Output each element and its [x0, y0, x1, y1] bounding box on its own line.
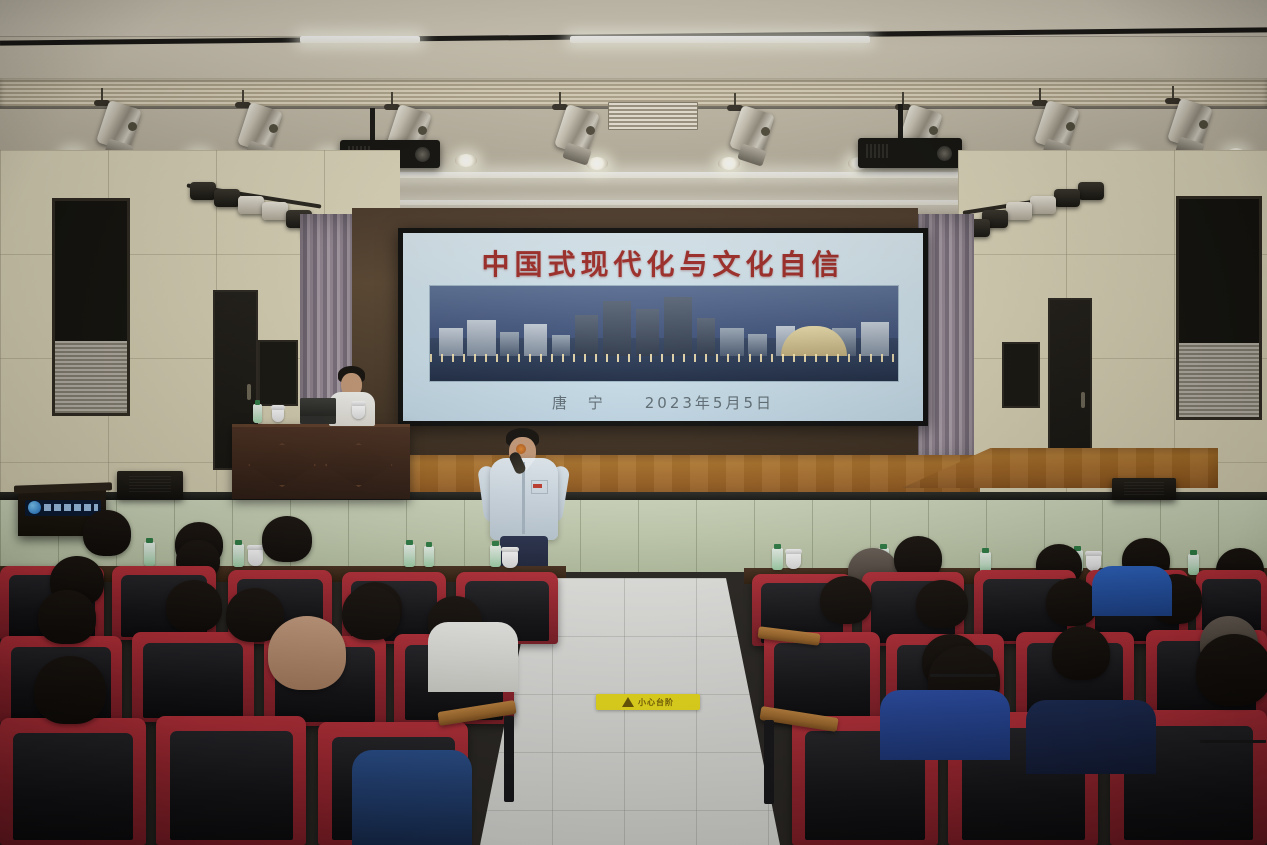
auditorium-seat[interactable] [156, 716, 306, 845]
audience-head [83, 510, 131, 556]
podium-nameplate [25, 500, 101, 516]
eyeglasses [1200, 740, 1266, 743]
stage-par-light [1078, 182, 1104, 200]
stage-par-light [1006, 202, 1032, 220]
tea-cup [272, 408, 284, 422]
audience-head [34, 656, 106, 724]
tea-cup [352, 404, 365, 419]
auditorium-seat[interactable] [132, 632, 254, 722]
audience-head [1052, 626, 1110, 680]
slide-date: 2023年5月5日 [645, 394, 774, 412]
audience-head [820, 576, 872, 624]
water-bottle [1188, 554, 1199, 575]
water-bottle [253, 404, 262, 423]
wall-mounted-monitor [1176, 196, 1262, 420]
audience-shoulders [1092, 566, 1172, 616]
name-badge [533, 484, 542, 488]
fluorescent-strip-light [570, 36, 870, 43]
recessed-downlight [455, 154, 477, 167]
seat-leg [764, 720, 774, 804]
water-bottle [772, 548, 783, 570]
loudspeaker [117, 471, 183, 499]
stage-par-light [190, 182, 216, 200]
stage-par-light [1030, 196, 1056, 214]
projection-screen: 中国式现代化与文化自信 [398, 228, 928, 426]
audience-head [1196, 634, 1267, 706]
loudspeaker [1112, 478, 1176, 500]
caution-sign-text: 小心台阶 [638, 697, 674, 708]
warning-triangle-icon [622, 697, 634, 707]
tea-cup [248, 548, 263, 566]
audience-head [342, 586, 400, 640]
audience-head [262, 516, 312, 562]
laptop [300, 398, 336, 424]
stage-par-light [1054, 189, 1080, 207]
tea-cup [1086, 554, 1101, 571]
water-bottle [144, 542, 155, 566]
auditorium-photo: 中国式现代化与文化自信 [0, 0, 1267, 845]
recessed-downlight [586, 157, 608, 170]
tea-cup [502, 550, 518, 568]
stage-par-light [238, 196, 264, 214]
wall-vent [1002, 342, 1040, 408]
eyeglasses [930, 674, 996, 677]
audience-head [1046, 578, 1098, 626]
slide-presenter-name: 唐 宁 [552, 394, 611, 412]
audience-shoulders [1026, 700, 1156, 774]
ceiling-projector [858, 138, 962, 168]
audience-head [38, 590, 96, 644]
wall-mounted-monitor [52, 198, 130, 416]
podium-company-text [44, 504, 98, 511]
company-logo-icon [28, 501, 41, 514]
air-vent-grille [608, 102, 698, 130]
wall-vent [258, 340, 298, 406]
slide-title: 中国式现代化与文化自信 [403, 243, 923, 283]
audience-shoulders [428, 622, 518, 692]
audience-shoulders [352, 750, 472, 845]
water-bottle [490, 545, 501, 567]
recessed-downlight [718, 157, 740, 170]
audience-head [268, 616, 346, 690]
audience-head [166, 580, 222, 632]
slide-byline: 唐 宁2023年5月5日 [403, 392, 923, 413]
water-bottle [404, 544, 415, 567]
head-table [232, 424, 410, 499]
water-bottle [424, 546, 434, 567]
stage-par-light [214, 189, 240, 207]
fluorescent-strip-light [300, 36, 420, 43]
audience-head [916, 580, 968, 628]
water-bottle [233, 544, 244, 567]
tea-cup [786, 552, 801, 569]
audience-shoulders [880, 690, 1010, 760]
seat-leg [504, 716, 514, 802]
slide-photo [429, 285, 899, 382]
stage-floor [330, 455, 980, 497]
stage-par-light [262, 202, 288, 220]
auditorium-seat[interactable] [0, 718, 146, 845]
floor-caution-sign[interactable]: 小心台阶 [596, 694, 700, 710]
